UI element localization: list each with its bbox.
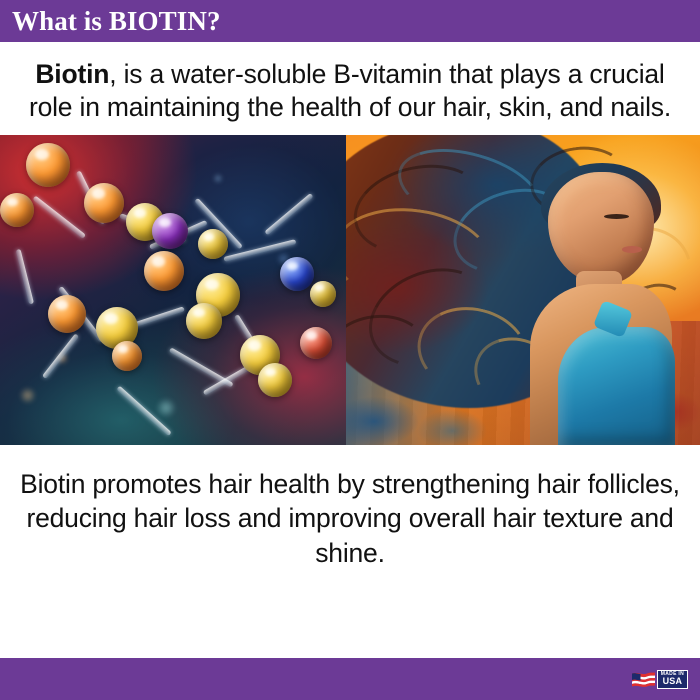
made-in-usa-badge: MADE IN USA — [632, 669, 688, 689]
lips — [622, 246, 641, 253]
header-bar: What is BIOTIN? — [0, 0, 700, 42]
molecule-atom — [48, 295, 86, 333]
footer-bar: MADE IN USA — [0, 658, 700, 700]
woman-flowing-hair-image — [346, 135, 700, 445]
eye — [604, 214, 629, 219]
intro-paragraph: Biotin, is a water-soluble B-vitamin tha… — [0, 42, 700, 135]
molecule-atom — [186, 303, 222, 339]
intro-lead-word: Biotin — [35, 59, 109, 89]
usa-wordmark: MADE IN USA — [657, 670, 688, 689]
molecule-atom — [280, 257, 314, 291]
image-strip — [0, 135, 700, 445]
usa-label: USA — [663, 677, 683, 686]
molecule-atom — [152, 213, 188, 249]
usa-flag-icon — [632, 671, 655, 688]
molecule-atom — [84, 183, 124, 223]
molecule-model-image — [0, 135, 346, 445]
page-title: What is BIOTIN? — [12, 8, 221, 35]
outro-paragraph: Biotin promotes hair health by strengthe… — [0, 445, 700, 658]
molecule-atom — [112, 341, 142, 371]
intro-rest-text: , is a water-soluble B-vitamin that play… — [29, 59, 671, 122]
molecule-atom — [300, 327, 332, 359]
molecule-atom — [258, 363, 292, 397]
molecule-atom — [198, 229, 228, 259]
molecule-atom — [0, 193, 34, 227]
molecule-atom — [144, 251, 184, 291]
biotin-infographic: What is BIOTIN? Biotin, is a water-solub… — [0, 0, 700, 700]
teal-top-garment — [558, 327, 675, 445]
molecule-atom — [310, 281, 336, 307]
molecule-atom — [26, 143, 70, 187]
